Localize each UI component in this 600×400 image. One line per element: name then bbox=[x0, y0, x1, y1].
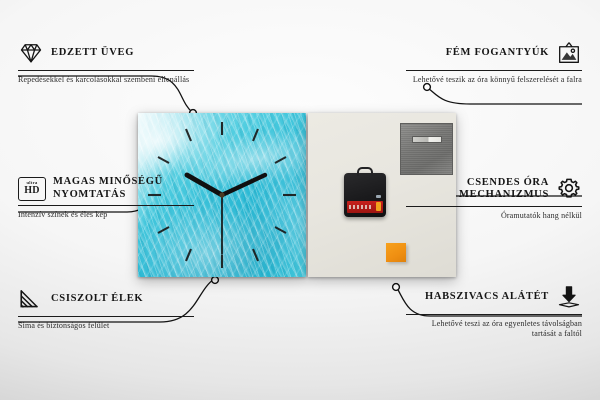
feature-title: HABSZIVACS ALÁTÉT bbox=[425, 291, 549, 304]
feature-description: Repedésekkel és karcolásokkal szembeni e… bbox=[18, 75, 194, 85]
feature-description: Lehetővé teszik az óra könnyű felszerelé… bbox=[406, 75, 582, 85]
feature-title: CSISZOLT ÉLEK bbox=[51, 293, 143, 306]
feature-description: Lehetővé teszi az óra egyenletes távolsá… bbox=[406, 319, 582, 339]
feature-foam-pad: HABSZIVACS ALÁTÉT Lehetővé teszi az óra … bbox=[406, 284, 582, 339]
feature-polished-edges: CSISZOLT ÉLEK Sima és biztonságos felüle… bbox=[18, 286, 194, 331]
hanging-frame-icon bbox=[556, 40, 582, 66]
divider bbox=[18, 316, 194, 317]
arrow-onto-pad-icon bbox=[556, 284, 582, 310]
feature-metal-handles: FÉM FOGANTYÚK Lehetővé teszik az óra kön… bbox=[406, 40, 582, 85]
metal-hanger-plate bbox=[400, 123, 453, 175]
gear-icon bbox=[556, 176, 582, 202]
feature-title: EDZETT ÜVEG bbox=[51, 47, 134, 60]
clock-mechanism bbox=[344, 173, 386, 217]
battery-compartment bbox=[347, 201, 383, 213]
feature-tempered-glass: EDZETT ÜVEG Repedésekkel és karcolásokka… bbox=[18, 40, 194, 85]
feature-title: MAGAS MINŐSÉGŰ NYOMTATÁS bbox=[53, 176, 194, 201]
feature-description: Sima és biztonságos felület bbox=[18, 321, 194, 331]
foam-spacer-pad bbox=[386, 243, 406, 262]
polished-edges-icon bbox=[18, 286, 44, 312]
mechanism-adjuster bbox=[376, 195, 381, 198]
mechanism-hanging-loop bbox=[357, 167, 373, 176]
feature-description: Intenzív színek és éles kép bbox=[18, 210, 194, 220]
feature-silent-mechanism: CSENDES ÓRA MECHANIZMUS Óramutatók hang … bbox=[406, 176, 582, 221]
feature-high-quality-print: ultra HD MAGAS MINŐSÉGŰ NYOMTATÁS Intenz… bbox=[18, 176, 194, 220]
feature-description: Óramutatók hang nélkül bbox=[406, 211, 582, 221]
feature-title: FÉM FOGANTYÚK bbox=[446, 47, 549, 60]
divider bbox=[406, 314, 582, 315]
hanger-keyhole-slot bbox=[412, 136, 442, 143]
divider bbox=[406, 70, 582, 71]
divider bbox=[18, 205, 194, 206]
infographic-canvas: EDZETT ÜVEG Repedésekkel és karcolásokka… bbox=[0, 0, 600, 400]
divider bbox=[406, 206, 582, 207]
divider bbox=[18, 70, 194, 71]
ultra-hd-badge-icon: ultra HD bbox=[18, 177, 46, 201]
badge-hd-label: HD bbox=[24, 186, 40, 196]
feature-title: CSENDES ÓRA MECHANIZMUS bbox=[406, 177, 549, 202]
diamond-icon bbox=[18, 40, 44, 66]
